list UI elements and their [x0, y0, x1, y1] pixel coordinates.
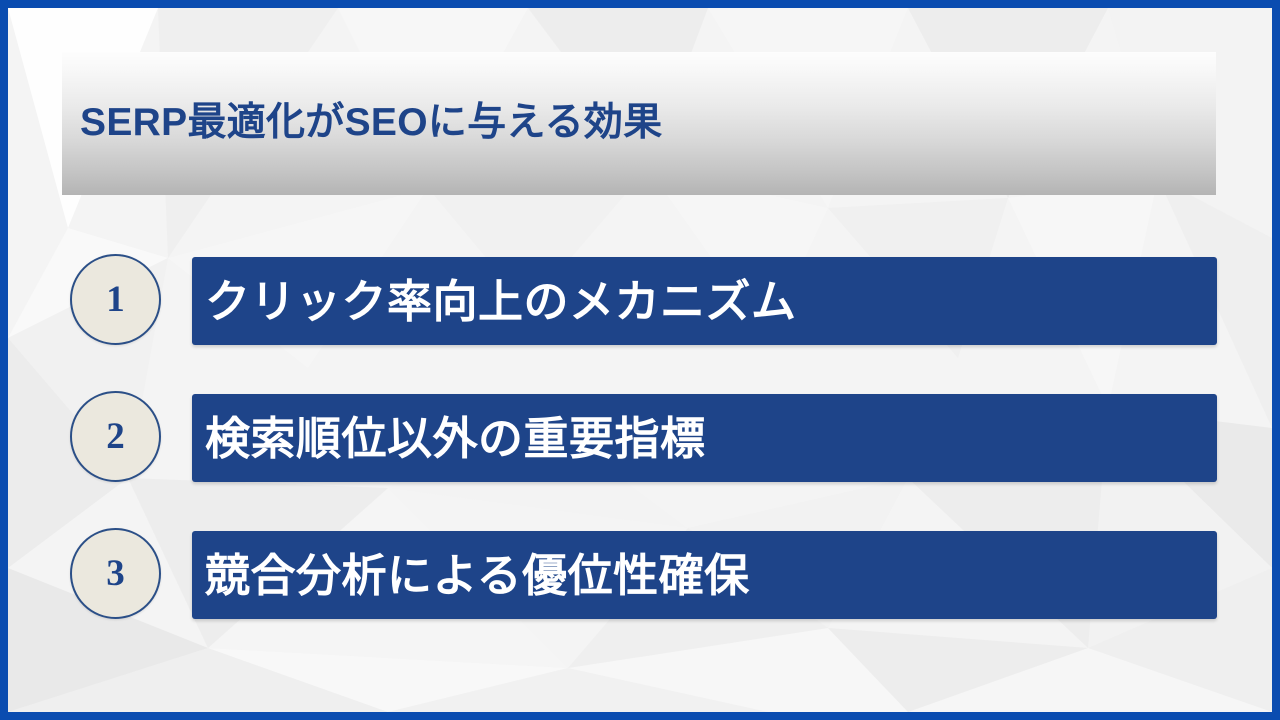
list-item-number-badge: 3 — [70, 528, 161, 619]
list-item[interactable]: 1 クリック率向上のメカニズム — [8, 257, 1272, 345]
list-item-number: 3 — [106, 555, 125, 592]
list-item-label: クリック率向上のメカニズム — [192, 279, 797, 324]
title-band: SERP最適化がSEOに与える効果 — [62, 52, 1216, 195]
page-title: SERP最適化がSEOに与える効果 — [62, 102, 663, 145]
list-item-bar[interactable]: 競合分析による優位性確保 — [192, 531, 1217, 619]
list-item-number-badge: 1 — [70, 254, 161, 345]
list-item-label: 検索順位以外の重要指標 — [192, 416, 706, 461]
list-item-bar[interactable]: 検索順位以外の重要指標 — [192, 394, 1217, 482]
list-item[interactable]: 3 競合分析による優位性確保 — [8, 531, 1272, 619]
list-item-number: 2 — [106, 418, 125, 455]
slide: SERP最適化がSEOに与える効果 1 クリック率向上のメカニズム 2 検索順位… — [0, 0, 1280, 720]
slide-canvas: SERP最適化がSEOに与える効果 1 クリック率向上のメカニズム 2 検索順位… — [8, 8, 1272, 712]
list-item[interactable]: 2 検索順位以外の重要指標 — [8, 394, 1272, 482]
list-item-label: 競合分析による優位性確保 — [192, 553, 750, 598]
list-item-bar[interactable]: クリック率向上のメカニズム — [192, 257, 1217, 345]
list-item-number-badge: 2 — [70, 391, 161, 482]
list-item-number: 1 — [106, 281, 125, 318]
numbered-list: 1 クリック率向上のメカニズム 2 検索順位以外の重要指標 3 — [8, 257, 1272, 619]
